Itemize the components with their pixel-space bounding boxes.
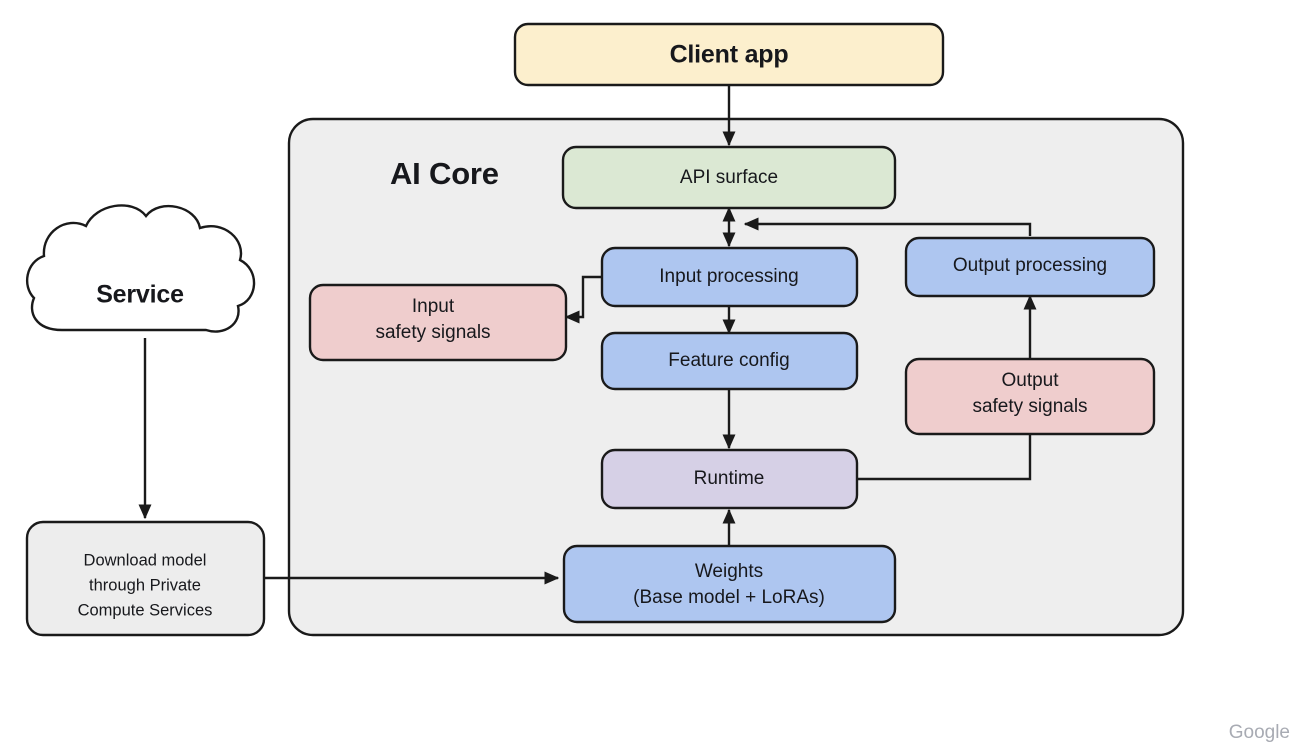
input-processing-label: Input processing	[659, 266, 798, 287]
diagram-canvas: AI Core Client app API surf	[0, 0, 1304, 756]
node-weights[interactable]: Weights (Base model + LoRAs)	[564, 546, 895, 622]
node-service-cloud[interactable]: Service	[27, 205, 254, 331]
output-safety-signals-label-line2: safety signals	[972, 396, 1087, 417]
client-app-label: Client app	[670, 41, 789, 69]
input-safety-signals-label-line2: safety signals	[375, 322, 490, 343]
node-output-safety-signals[interactable]: Output safety signals	[906, 359, 1154, 434]
google-watermark: Google	[1229, 722, 1290, 743]
input-safety-signals-label-line1: Input	[412, 296, 455, 317]
download-model-label-line3: Compute Services	[78, 601, 213, 619]
ai-core-title: AI Core	[390, 156, 499, 191]
service-cloud-label: Service	[96, 281, 184, 309]
download-model-label-line2: through Private	[89, 576, 201, 594]
weights-shape[interactable]	[564, 546, 895, 622]
node-output-processing[interactable]: Output processing	[906, 238, 1154, 296]
output-processing-label: Output processing	[953, 255, 1107, 276]
weights-label-line2: (Base model + LoRAs)	[633, 587, 825, 608]
api-surface-label: API surface	[680, 167, 778, 188]
output-safety-signals-label-line1: Output	[1001, 370, 1059, 391]
architecture-diagram: AI Core Client app API surf	[0, 0, 1304, 756]
feature-config-label: Feature config	[668, 350, 789, 371]
node-runtime[interactable]: Runtime	[602, 450, 857, 508]
node-download-model[interactable]: Download model through Private Compute S…	[27, 522, 264, 635]
service-cloud-shape[interactable]	[27, 205, 254, 331]
node-client-app[interactable]: Client app	[515, 24, 943, 85]
node-api-surface[interactable]: API surface	[563, 147, 895, 208]
node-feature-config[interactable]: Feature config	[602, 333, 857, 389]
runtime-label: Runtime	[694, 468, 765, 489]
node-input-safety-signals[interactable]: Input safety signals	[310, 285, 566, 360]
download-model-label-line1: Download model	[84, 551, 207, 569]
node-input-processing[interactable]: Input processing	[602, 248, 857, 306]
weights-label-line1: Weights	[695, 561, 763, 582]
